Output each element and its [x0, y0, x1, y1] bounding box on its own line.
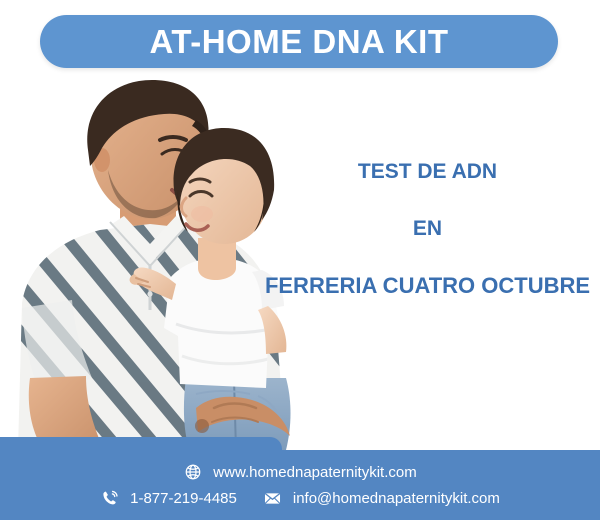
- headline-line-preposition: EN: [255, 217, 600, 241]
- headline-line-location: FERRERIA CUATRO OCTUBRE: [255, 273, 600, 298]
- footer-phone-text: 1-877-219-4485: [130, 491, 237, 506]
- header-title: AT-HOME DNA KIT: [150, 25, 449, 58]
- footer-website-text: www.homednapaternitykit.com: [213, 465, 416, 480]
- footer-phone-item[interactable]: 1-877-219-4485: [100, 488, 237, 508]
- headline-block: TEST DE ADN EN FERRERIA CUATRO OCTUBRE: [255, 160, 600, 299]
- headline-line-service: TEST DE ADN: [255, 160, 600, 184]
- header-banner: AT-HOME DNA KIT: [40, 15, 558, 68]
- envelope-icon: [263, 488, 283, 508]
- footer-website-row: www.homednapaternitykit.com: [183, 462, 416, 482]
- phone-icon: [100, 488, 120, 508]
- footer-contact-info: www.homednapaternitykit.com 1-877-219-44…: [0, 450, 600, 520]
- footer-website-item[interactable]: www.homednapaternitykit.com: [183, 462, 416, 482]
- footer-email-item[interactable]: info@homednapaternitykit.com: [263, 488, 500, 508]
- footer-phone-email-row: 1-877-219-4485 info@homednapaternitykit.…: [100, 488, 500, 508]
- globe-icon: [183, 462, 203, 482]
- poster-canvas: AT-HOME DNA KIT: [0, 0, 600, 520]
- footer-email-text: info@homednapaternitykit.com: [293, 491, 500, 506]
